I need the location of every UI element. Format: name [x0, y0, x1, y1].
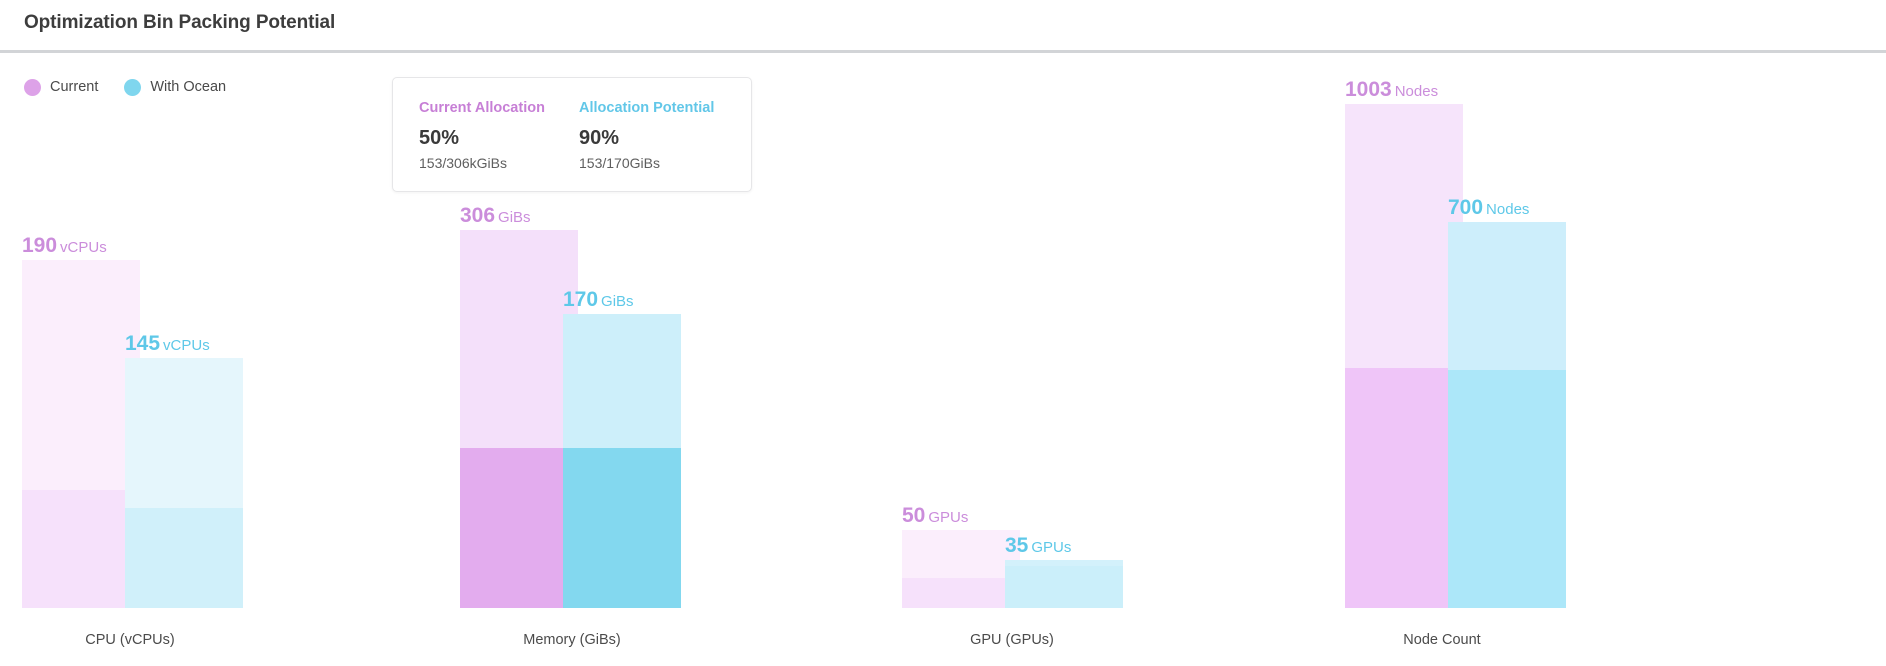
bar-current[interactable]: 50GPUs — [902, 530, 1020, 608]
bar-value-number: 306 — [460, 204, 495, 227]
bar-value-number: 700 — [1448, 196, 1483, 219]
bar-segment-unused — [563, 314, 681, 448]
bar-value-label: 170GiBs — [563, 289, 634, 310]
bar-value-unit: vCPUs — [163, 337, 210, 354]
bar-segment-unused — [22, 260, 140, 490]
bar-segment-unused — [460, 230, 578, 448]
bar-segment-used — [1345, 368, 1463, 608]
bar-with-ocean[interactable]: 170GiBs — [563, 314, 681, 608]
bar-value-number: 50 — [902, 504, 925, 527]
bar-with-ocean[interactable]: 700Nodes — [1448, 222, 1566, 608]
x-axis-label: Memory (GiBs) — [412, 632, 732, 648]
bar-value-number: 35 — [1005, 534, 1028, 557]
bar-value-number: 170 — [563, 288, 598, 311]
bar-segment-unused — [125, 358, 243, 508]
bar-segment-used — [460, 448, 578, 608]
bar-value-unit: GPUs — [1031, 539, 1071, 556]
bar-value-label: 145vCPUs — [125, 333, 210, 354]
bar-value-unit: GPUs — [928, 509, 968, 526]
bar-value-number: 190 — [22, 234, 57, 257]
bar-value-number: 145 — [125, 332, 160, 355]
bar-value-label: 50GPUs — [902, 505, 968, 526]
bar-segment-used — [1005, 566, 1123, 608]
bar-value-label: 700Nodes — [1448, 197, 1529, 218]
bar-value-unit: Nodes — [1395, 83, 1438, 100]
bar-value-unit: vCPUs — [60, 239, 107, 256]
bar-value-label: 306GiBs — [460, 205, 531, 226]
bar-chart-plot: 190vCPUs145vCPUsCPU (vCPUs)306GiBs170GiB… — [0, 0, 1886, 666]
bar-segment-used — [125, 508, 243, 608]
bar-current[interactable]: 190vCPUs — [22, 260, 140, 608]
x-axis-label: Node Count — [1282, 632, 1602, 648]
bar-value-unit: GiBs — [498, 209, 531, 226]
x-axis-label: CPU (vCPUs) — [0, 632, 290, 648]
bar-segment-used — [1448, 370, 1566, 608]
bar-segment-used — [902, 578, 1020, 608]
bar-value-unit: GiBs — [601, 293, 634, 310]
bar-segment-used — [22, 490, 140, 608]
bar-with-ocean[interactable]: 145vCPUs — [125, 358, 243, 608]
bar-value-label: 35GPUs — [1005, 535, 1071, 556]
bar-segment-unused — [1345, 104, 1463, 368]
bar-value-label: 190vCPUs — [22, 235, 107, 256]
bar-value-unit: Nodes — [1486, 201, 1529, 218]
bar-value-number: 1003 — [1345, 78, 1392, 101]
bar-with-ocean[interactable]: 35GPUs — [1005, 560, 1123, 608]
bar-current[interactable]: 1003Nodes — [1345, 104, 1463, 608]
x-axis-label: GPU (GPUs) — [852, 632, 1172, 648]
bar-segment-used — [563, 448, 681, 608]
bar-value-label: 1003Nodes — [1345, 79, 1438, 100]
bar-current[interactable]: 306GiBs — [460, 230, 578, 608]
bar-segment-unused — [1448, 222, 1566, 370]
bar-segment-unused — [902, 530, 1020, 578]
